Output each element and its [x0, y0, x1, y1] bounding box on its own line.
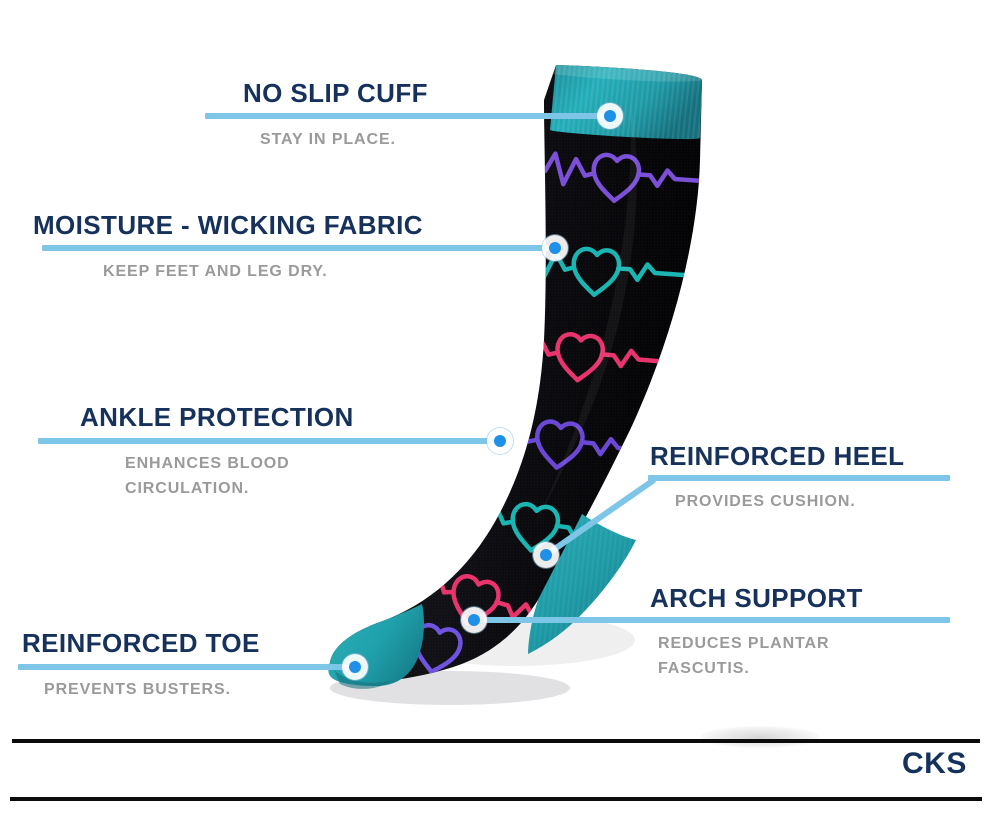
marker-dot-moisture-wicking[interactable] — [542, 235, 568, 261]
callout-sub-line: FASCUTIS. — [658, 657, 863, 682]
callout-sub-line: PREVENTS BUSTERS. — [44, 678, 260, 703]
footer-brand-fragment: CKS — [902, 749, 967, 779]
callout-sub-line: KEEP FEET AND LEG DRY. — [103, 260, 423, 285]
callout-sub-arch-support: REDUCES PLANTAR FASCUTIS. — [658, 632, 863, 682]
callout-title-ankle-protection: ANKLE PROTECTION — [80, 404, 354, 430]
callout-sub-line: PROVIDES CUSHION. — [675, 490, 904, 515]
marker-dot-no-slip-cuff[interactable] — [597, 103, 623, 129]
callout-sub-line: REDUCES PLANTAR — [658, 632, 863, 657]
callout-reinforced-heel: REINFORCED HEEL PROVIDES CUSHION. — [650, 443, 904, 515]
callout-title-reinforced-heel: REINFORCED HEEL — [650, 443, 904, 469]
callout-moisture-wicking-fabric: MOISTURE - WICKING FABRIC KEEP FEET AND … — [33, 212, 423, 285]
callout-sub-moisture-wicking-fabric: KEEP FEET AND LEG DRY. — [103, 260, 423, 285]
footer-smudge — [700, 726, 820, 748]
callout-sub-line: ENHANCES BLOOD — [125, 452, 354, 477]
footer-rule-top — [12, 739, 980, 743]
callout-ankle-protection: ANKLE PROTECTION ENHANCES BLOOD CIRCULAT… — [80, 404, 354, 502]
marker-dot-ankle-protection[interactable] — [487, 428, 513, 454]
callout-title-arch-support: ARCH SUPPORT — [650, 585, 863, 611]
callout-title-no-slip-cuff: NO SLIP CUFF — [243, 80, 428, 106]
callout-arch-support: ARCH SUPPORT REDUCES PLANTAR FASCUTIS. — [650, 585, 863, 682]
callout-title-reinforced-toe: REINFORCED TOE — [22, 630, 260, 656]
callout-sub-no-slip-cuff: STAY IN PLACE. — [260, 128, 428, 153]
callout-sub-line: STAY IN PLACE. — [260, 128, 428, 153]
callout-sub-ankle-protection: ENHANCES BLOOD CIRCULATION. — [125, 452, 354, 502]
feature-diagram-page: NO SLIP CUFF STAY IN PLACE. MOISTURE - W… — [0, 0, 1001, 827]
callout-sub-reinforced-toe: PREVENTS BUSTERS. — [44, 678, 260, 703]
callout-sub-reinforced-heel: PROVIDES CUSHION. — [675, 490, 904, 515]
callout-sub-line: CIRCULATION. — [125, 477, 354, 502]
callout-reinforced-toe: REINFORCED TOE PREVENTS BUSTERS. — [22, 630, 260, 703]
sock-cuff — [550, 65, 702, 139]
footer-rule-bottom — [10, 797, 982, 801]
callout-title-moisture-wicking-fabric: MOISTURE - WICKING FABRIC — [33, 212, 423, 238]
marker-dot-reinforced-toe[interactable] — [342, 654, 368, 680]
marker-dot-arch-support[interactable] — [461, 607, 487, 633]
marker-dot-reinforced-heel[interactable] — [533, 542, 559, 568]
callout-no-slip-cuff: NO SLIP CUFF STAY IN PLACE. — [243, 80, 428, 153]
